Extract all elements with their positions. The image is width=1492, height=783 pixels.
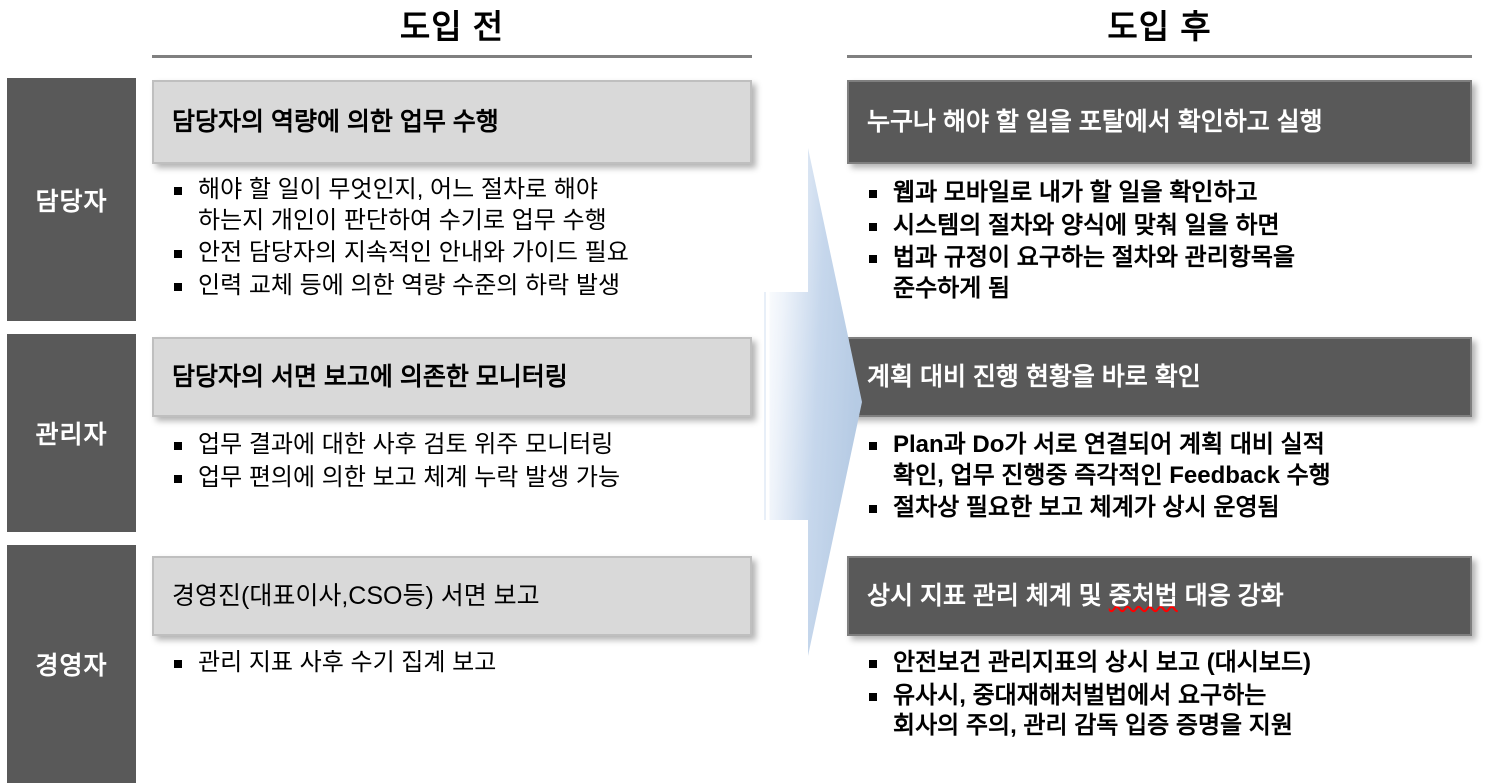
list-item: 유사시, 중대재해처벌법에서 요구하는 회사의 주의, 관리 감독 입증 증명을… — [863, 681, 1478, 742]
role-label-gyeongyeongja: 경영자 — [7, 545, 136, 783]
after-bullet-list-row-2: 안전보건 관리지표의 상시 보고 (대시보드) 유사시, 중대재해처벌법에서 요… — [863, 648, 1478, 744]
role-label-damdangja: 담당자 — [7, 78, 136, 321]
after-header-text-row-2: 상시 지표 관리 체계 및 중처법 대응 강화 — [867, 582, 1284, 611]
header-part-suffix: 대응 강화 — [1178, 582, 1284, 610]
before-bullet-list-row-0: 해야 할 일이 무엇인지, 어느 절차로 해야 하는지 개인이 판단하여 수기로… — [168, 175, 758, 304]
list-item: 절차상 필요한 보고 체계가 상시 운영됨 — [863, 493, 1478, 524]
list-item: 업무 결과에 대한 사후 검토 위주 모니터링 — [168, 430, 758, 461]
before-header-text-row-2: 경영진(대표이사,CSO등) 서면 보고 — [172, 582, 540, 611]
list-item: 웹과 모바일로 내가 할 일을 확인하고 — [863, 178, 1478, 209]
after-header-plate-row-2: 상시 지표 관리 체계 및 중처법 대응 강화 — [847, 556, 1472, 636]
column-rule-after — [847, 55, 1472, 58]
before-bullet-list-row-1: 업무 결과에 대한 사후 검토 위주 모니터링 업무 편의에 의한 보고 체계 … — [168, 430, 758, 495]
before-header-text-row-0: 담당자의 역량에 의한 업무 수행 — [172, 108, 499, 137]
list-item: Plan과 Do가 서로 연결되어 계획 대비 실적 확인, 업무 진행중 즉각… — [863, 430, 1478, 491]
column-title-after: 도입 후 — [847, 10, 1472, 43]
list-item: 법과 규정이 요구하는 절차와 관리항목을 준수하게 됨 — [863, 243, 1478, 304]
after-header-text-row-0: 누구나 해야 할 일을 포탈에서 확인하고 실행 — [867, 108, 1323, 137]
after-bullet-list-row-1: Plan과 Do가 서로 연결되어 계획 대비 실적 확인, 업무 진행중 즉각… — [863, 430, 1478, 526]
misspelled-word: 중처법 — [1109, 582, 1178, 610]
column-title-before: 도입 전 — [152, 10, 752, 43]
before-bullet-list-row-2: 관리 지표 사후 수기 집계 보고 — [168, 648, 758, 681]
after-bullet-list-row-0: 웹과 모바일로 내가 할 일을 확인하고 시스템의 절차와 양식에 맞춰 일을 … — [863, 178, 1478, 307]
header-part-prefix: 상시 지표 관리 체계 및 — [867, 582, 1109, 610]
after-header-text-row-1: 계획 대비 진행 현황을 바로 확인 — [867, 363, 1201, 392]
list-item: 업무 편의에 의한 보고 체계 누락 발생 가능 — [168, 463, 758, 494]
column-rule-before — [152, 55, 752, 58]
list-item: 안전 담당자의 지속적인 안내와 가이드 필요 — [168, 238, 758, 269]
list-item: 해야 할 일이 무엇인지, 어느 절차로 해야 하는지 개인이 판단하여 수기로… — [168, 175, 758, 236]
after-header-plate-row-0: 누구나 해야 할 일을 포탈에서 확인하고 실행 — [847, 80, 1472, 164]
after-header-plate-row-1: 계획 대비 진행 현황을 바로 확인 — [847, 337, 1472, 417]
slide-canvas: 도입 전 도입 후 담당자 관리자 경영자 담당자의 역량에 의한 업무 수행 … — [0, 0, 1492, 783]
before-header-plate-row-2: 경영진(대표이사,CSO등) 서면 보고 — [152, 556, 752, 636]
list-item: 안전보건 관리지표의 상시 보고 (대시보드) — [863, 648, 1478, 679]
list-item: 시스템의 절차와 양식에 맞춰 일을 하면 — [863, 211, 1478, 242]
before-header-text-row-1: 담당자의 서면 보고에 의존한 모니터링 — [172, 363, 568, 392]
role-label-gwanrija: 관리자 — [7, 334, 136, 532]
before-header-plate-row-1: 담당자의 서면 보고에 의존한 모니터링 — [152, 337, 752, 417]
before-header-plate-row-0: 담당자의 역량에 의한 업무 수행 — [152, 80, 752, 164]
right-arrow-icon — [762, 148, 868, 656]
transition-arrow — [762, 148, 868, 656]
list-item: 인력 교체 등에 의한 역량 수준의 하락 발생 — [168, 271, 758, 302]
list-item: 관리 지표 사후 수기 집계 보고 — [168, 648, 758, 679]
